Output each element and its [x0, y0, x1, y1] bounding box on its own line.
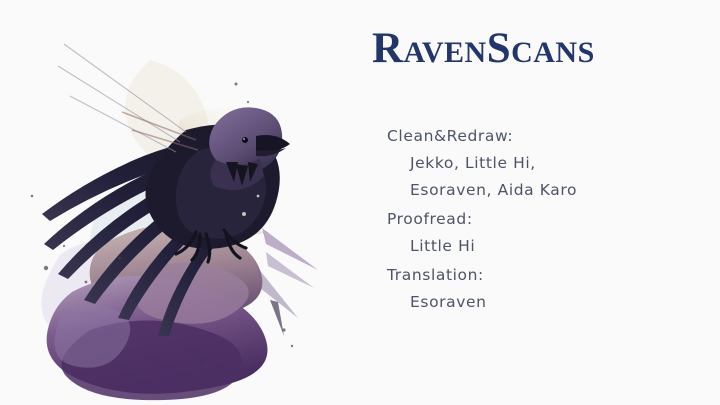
watercolor-raven-illustration — [0, 0, 340, 405]
credit-role: Translation: — [387, 262, 717, 289]
credit-role: Clean&Redraw: — [387, 123, 717, 150]
credit-name: Little Hi — [387, 233, 717, 260]
credit-role: Proofread: — [387, 206, 717, 233]
credits-list: Clean&Redraw: Jekko, Little Hi, Esoraven… — [387, 123, 717, 318]
credit-name: Esoraven — [387, 289, 717, 316]
page-title: RavenScans — [372, 27, 595, 70]
credit-group: Translation: Esoraven — [387, 262, 717, 316]
credit-name: Jekko, Little Hi, — [387, 150, 717, 177]
credit-name: Esoraven, Aida Karo — [387, 177, 717, 204]
credits-page: RavenScans Clean&Redraw: Jekko, Little H… — [0, 0, 720, 405]
text-panel: RavenScans Clean&Redraw: Jekko, Little H… — [355, 0, 720, 405]
raven-eye — [242, 137, 248, 143]
credit-group: Clean&Redraw: Jekko, Little Hi, Esoraven… — [387, 123, 717, 204]
credit-group: Proofread: Little Hi — [387, 206, 717, 260]
